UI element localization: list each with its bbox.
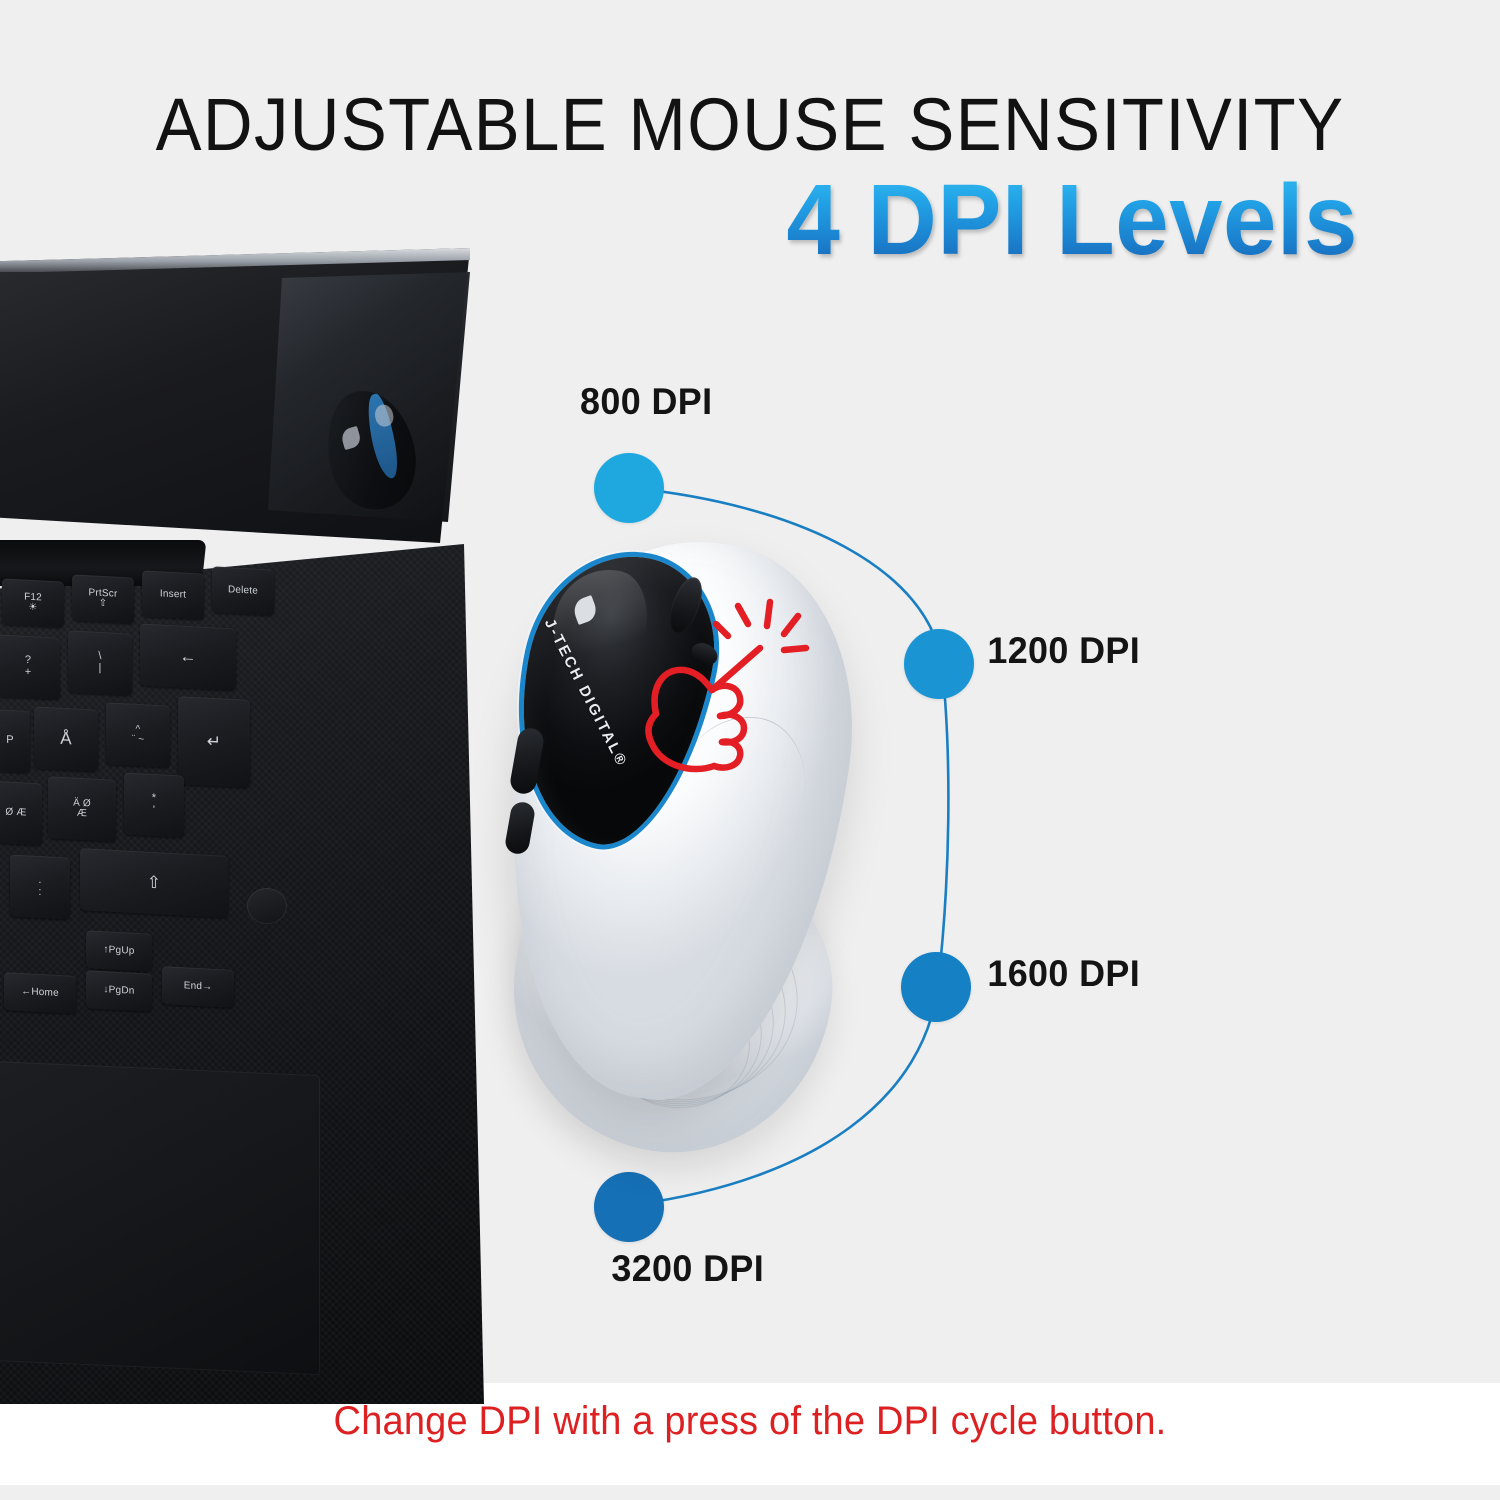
keyboard-key[interactable]: Insert bbox=[142, 570, 204, 619]
dpi-dot-1200 bbox=[904, 629, 974, 699]
keyboard-key[interactable]: Delete bbox=[212, 566, 274, 615]
keyboard-key[interactable]: ↵ bbox=[178, 696, 250, 788]
power-button[interactable] bbox=[247, 888, 287, 924]
keyboard-key[interactable]: F12 ☀ bbox=[2, 578, 64, 627]
infographic-canvas: F12 ☀PrtScr ⇧InsertDelete? +\ |←PÅ^ ¨ ~↵… bbox=[0, 0, 1500, 1500]
keyboard-key[interactable]: ←Home bbox=[4, 972, 76, 1014]
bottom-band bbox=[0, 1485, 1500, 1500]
dpi-dot-1600 bbox=[901, 952, 971, 1022]
keyboard-key[interactable]: End→ bbox=[162, 966, 234, 1008]
keyboard-key[interactable]: ↓PgDn bbox=[86, 970, 152, 1011]
dpi-label-800: 800 DPI bbox=[580, 381, 712, 423]
page-title: ADJUSTABLE MOUSE SENSITIVITY bbox=[53, 88, 1448, 162]
keyboard-key[interactable]: ^ ¨ ~ bbox=[106, 702, 170, 767]
dpi-dot-800 bbox=[594, 453, 664, 523]
laptop-illustration: F12 ☀PrtScr ⇧InsertDelete? +\ |←PÅ^ ¨ ~↵… bbox=[0, 248, 510, 1398]
keyboard-key[interactable]: Ø Æ bbox=[0, 781, 42, 846]
dpi-label-1600: 1600 DPI bbox=[987, 953, 1140, 995]
trackpad[interactable] bbox=[0, 1061, 320, 1375]
keyboard-key[interactable]: PrtScr ⇧ bbox=[72, 574, 134, 623]
keyboard-key[interactable]: * ' bbox=[124, 772, 184, 837]
keyboard-key[interactable]: . : bbox=[10, 854, 70, 919]
vertical-mouse-illustration: J-TECH DIGITAL® bbox=[470, 520, 900, 1200]
keyboard-key[interactable]: \ | bbox=[68, 630, 132, 695]
keyboard-key[interactable]: Ä Ø Æ bbox=[48, 776, 116, 842]
keyboard-key[interactable]: ↑PgUp bbox=[86, 930, 152, 971]
keyboard-key[interactable]: P bbox=[0, 709, 30, 773]
dpi-label-1200: 1200 DPI bbox=[987, 630, 1140, 672]
keyboard-key[interactable]: ← bbox=[140, 623, 236, 690]
pointing-hand-click-icon bbox=[620, 590, 840, 780]
dpi-label-3200: 3200 DPI bbox=[611, 1248, 764, 1290]
keyboard-key[interactable]: ⇧ bbox=[80, 848, 228, 918]
footer-caption: Change DPI with a press of the DPI cycle… bbox=[38, 1399, 1463, 1444]
page-subtitle: 4 DPI Levels bbox=[60, 168, 1500, 273]
keyboard-key[interactable]: ? + bbox=[0, 634, 60, 699]
keyboard-key[interactable]: Å bbox=[34, 706, 98, 771]
